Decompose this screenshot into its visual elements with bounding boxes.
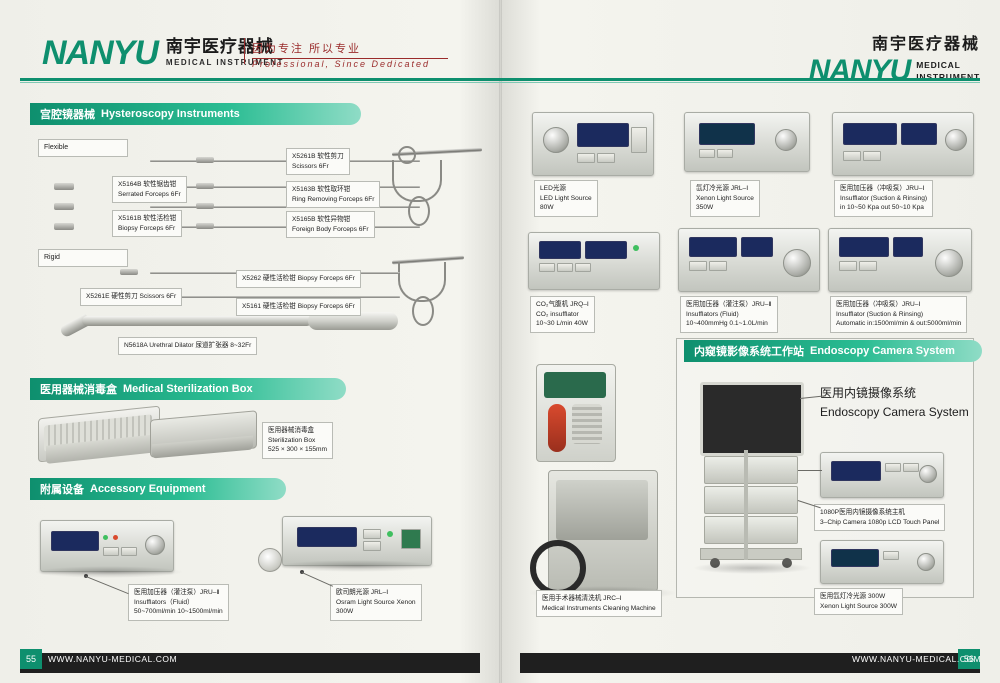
shadow-insufflator <box>34 566 184 578</box>
label-insufflator-suction: 医用加压器（冲吸泵）JRU–Ⅰ Insufflator (Suction & R… <box>834 180 933 217</box>
group-label-flexible: Flexible <box>38 139 128 157</box>
product-insufflator-suction-rinsing <box>832 112 974 176</box>
brand-logo-left: NANYU 南宇医疗器械 MEDICAL INSTRUMENT <box>42 32 284 70</box>
product-co2-insufflator <box>528 232 660 290</box>
label-insufflator-fluid: 医用加压器（灌注泵）JRU–Ⅱ Insufflators（Fluid） 50~7… <box>128 584 229 621</box>
page-footer: 55 WWW.NANYU-MEDICAL.COM 56 WWW.NANYU-ME… <box>0 649 1000 683</box>
section-hysteroscopy-cn: 宫腔镜器械 <box>40 106 95 122</box>
section-accessory-cn: 附属设备 <box>40 481 84 497</box>
slogan-divider <box>244 38 245 64</box>
label-osram-light-source: 欧司朗光源 JRL–Ⅰ Osram Light Source Xenon 300… <box>330 584 422 621</box>
label-x5262: X5262 硬性活检钳 Biopsy Forceps 6Fr <box>236 270 361 288</box>
section-banner-accessory: 附属设备 Accessory Equipment <box>30 478 286 500</box>
header-rule-secondary <box>20 82 980 83</box>
section-hysteroscopy-en: Hysteroscopy Instruments <box>101 108 240 120</box>
label-led-light-source: LED光源 LED Light Source 80W <box>534 180 598 217</box>
label-insufflators-fluid: 医用加压器（灌注泵）JRU–Ⅱ Insufflators (Fluid) 10~… <box>680 296 778 333</box>
camera-title-cn: 医用内镜摄像系统 <box>820 384 969 403</box>
label-x5261e: X5261E 硬性剪刀 Scissors 6Fr <box>80 288 182 306</box>
brand-right-en-1: MEDICAL <box>916 60 980 71</box>
slogan-cn: 因为专注 所以专业 <box>252 40 452 56</box>
label-xenon-300w: 医用氙灯冷光源 300W Xenon Light Source 300W <box>814 588 903 615</box>
label-insufflator-automatic: 医用加压器（冲吸泵）JRU–Ⅰ Insufflator (Suction & R… <box>830 296 967 333</box>
section-accessory-en: Accessory Equipment <box>90 483 206 495</box>
section-sterilization-en: Medical Sterilization Box <box>123 383 253 395</box>
footer-page-number-left: 55 <box>20 649 42 669</box>
product-camera-main-unit <box>820 452 944 498</box>
label-camera-main-unit: 1080P医用内镜摄像系统主机 3–Chip Camera 1080p LCD … <box>814 504 945 531</box>
page-header: NANYU 南宇医疗器械 MEDICAL INSTRUMENT 因为专注 所以专… <box>0 0 1000 80</box>
footer-url-right: WWW.NANYU-MEDICAL.COM <box>852 649 981 669</box>
label-co2-insufflator: CO₂气腹机 JRQ–Ⅰ CO₂ insufflator 10~30 L/min… <box>530 296 595 333</box>
label-x5161: X5161 硬性活检钳 Biopsy Forceps 6Fr <box>236 298 361 316</box>
label-x5161b: X5161B 软性活检钳 Biopsy Forceps 6Fr <box>112 210 182 237</box>
label-x5261b: X5261B 软性剪刀 Scissors 6Fr <box>286 148 350 175</box>
group-label-rigid: Rigid <box>38 249 128 267</box>
label-xenon-light-source: 氙灯冷光源 JRL–Ⅰ Xenon Light Source 350W <box>690 180 760 217</box>
section-banner-hysteroscopy: 宫腔镜器械 Hysteroscopy Instruments <box>30 103 361 125</box>
label-n5618a: N5618A Urethral Dilator 尿道扩张器 8~32Fr <box>118 337 257 355</box>
callout-line-2 <box>302 572 333 587</box>
product-osram-light-source <box>282 516 432 566</box>
page-spine <box>499 0 502 683</box>
product-xenon-light-source <box>684 112 810 172</box>
camera-system-title: 医用内镜摄像系统 Endoscopy Camera System <box>820 384 969 422</box>
label-cleaning-machine: 医用手术器械清洗机 JRC–Ⅰ Medical Instruments Clea… <box>536 590 662 617</box>
section-sterilization-cn: 医用器械消毒盒 <box>40 381 117 397</box>
footer-url-left: WWW.NANYU-MEDICAL.COM <box>48 649 177 669</box>
brand-name-cn-right: 南宇医疗器械 <box>809 30 980 54</box>
label-x5165b: X5165B 软性异物钳 Foreign Body Forceps 6Fr <box>286 211 375 238</box>
label-x5164b: X5164B 软性锯齿钳 Serrated Forceps 6Fr <box>112 176 187 203</box>
shadow-trolley <box>692 562 812 574</box>
callout-line-1 <box>86 576 129 594</box>
product-insufflator-automatic <box>828 228 972 292</box>
callout-line-camera <box>798 470 822 471</box>
section-banner-sterilization: 医用器械消毒盒 Medical Sterilization Box <box>30 378 346 400</box>
catalog-page: NANYU 南宇医疗器械 MEDICAL INSTRUMENT 因为专注 所以专… <box>0 0 1000 683</box>
product-led-light-source <box>532 112 654 176</box>
product-insufflator-fluid <box>40 520 174 572</box>
camera-title-en: Endoscopy Camera System <box>820 403 969 422</box>
slogan-en: Professional, Since Dedicated <box>252 59 452 69</box>
label-x5163b: X5163B 软性取环钳 Ring Removing Forceps 6Fr <box>286 181 380 208</box>
section-camera-cn: 内窥镜影像系统工作站 <box>694 343 804 359</box>
product-insufflators-fluid <box>678 228 820 292</box>
product-xenon-300w <box>820 540 944 584</box>
brand-name-en: NANYU <box>42 36 158 70</box>
header-rule <box>20 78 980 81</box>
label-sterilization-box: 医用器械消毒盒 Sterilization Box 525 × 300 × 15… <box>262 422 333 459</box>
slogan-block: 因为专注 所以专业 Professional, Since Dedicated <box>252 40 452 69</box>
section-banner-camera-system: 内窥镜影像系统工作站 Endoscopy Camera System <box>684 340 982 362</box>
section-camera-en: Endoscopy Camera System <box>810 345 955 357</box>
